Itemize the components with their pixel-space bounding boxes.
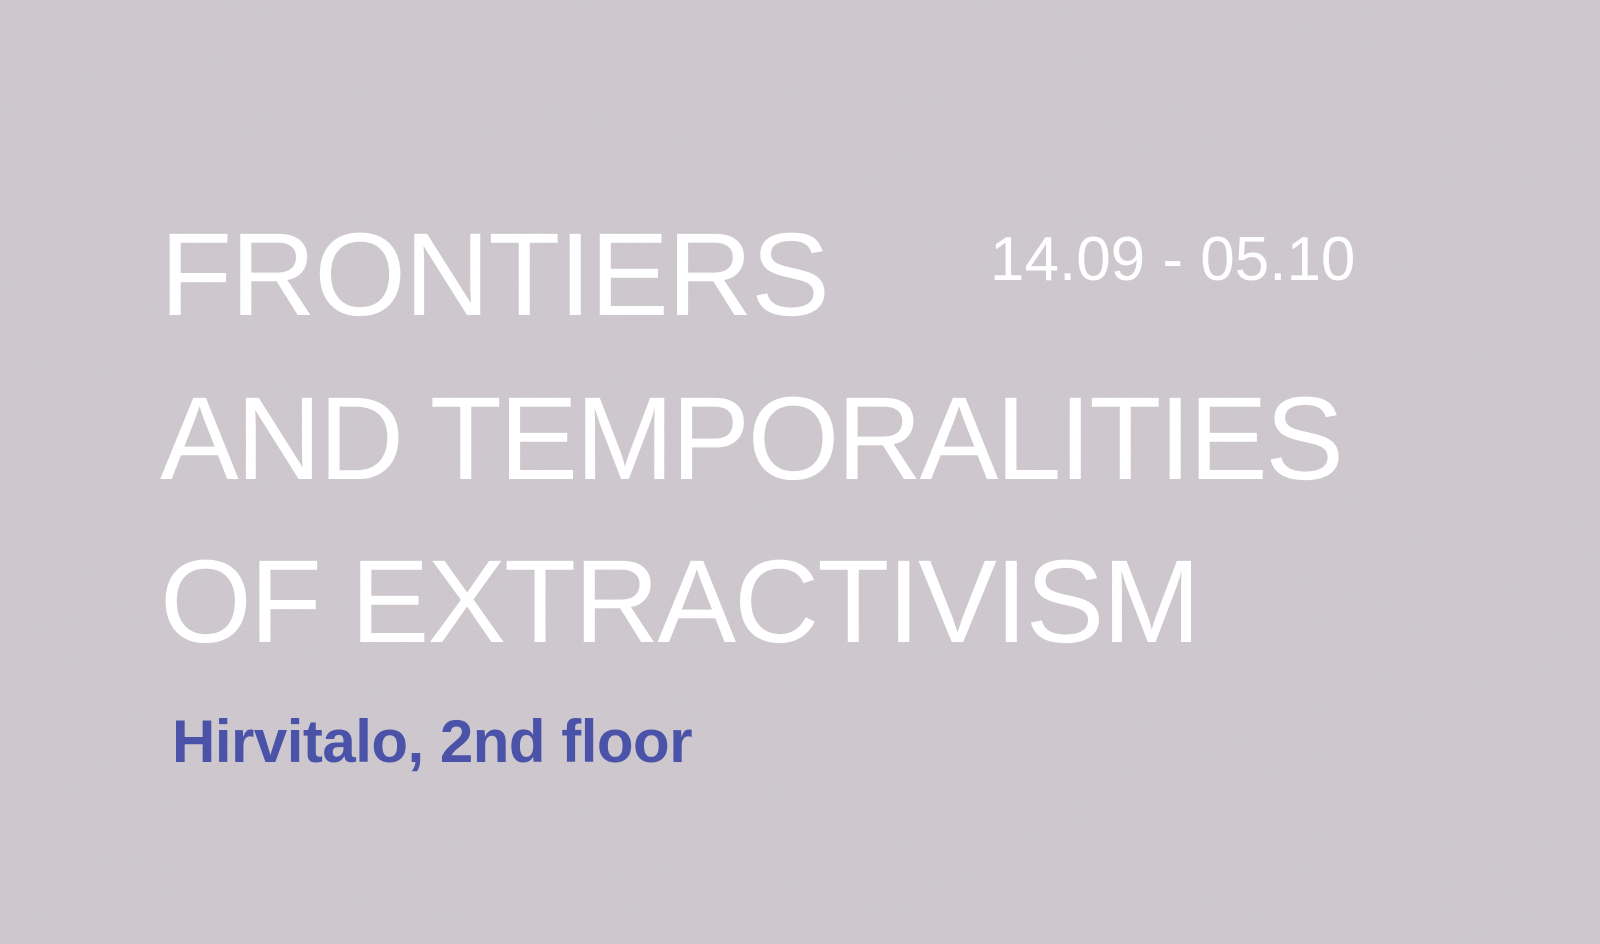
exhibition-dates: 14.09 - 05.10: [990, 229, 1355, 291]
venue-label: Hirvitalo, 2nd floor: [172, 706, 692, 778]
title-line-3: OF EXTRACTIVISM: [160, 545, 1450, 661]
title-line-2: AND TEMPORALITIES: [160, 382, 1450, 498]
poster-text-overlay: FRONTIERS AND TEMPORALITIES OF EXTRACTIV…: [0, 0, 1600, 944]
exhibition-poster: FRONTIERS AND TEMPORALITIES OF EXTRACTIV…: [0, 0, 1600, 944]
